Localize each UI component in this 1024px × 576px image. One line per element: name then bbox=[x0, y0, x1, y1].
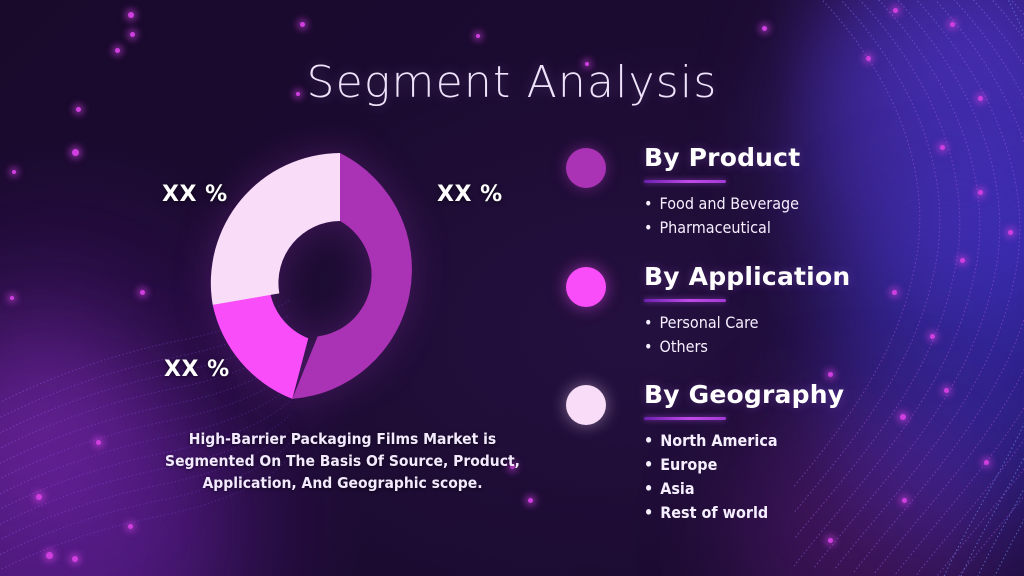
legend-underline-by-product bbox=[644, 180, 726, 183]
particle-dot bbox=[128, 12, 134, 18]
legend-heading-by-product: By Product bbox=[644, 143, 986, 173]
particle-dot bbox=[46, 552, 53, 559]
legend-items-by-geography: North America Europe Asia Rest of world bbox=[644, 429, 986, 525]
list-item: Personal Care bbox=[644, 311, 986, 335]
legend-underline-by-geography bbox=[644, 417, 726, 420]
particle-dot bbox=[130, 32, 135, 37]
list-item: Others bbox=[644, 335, 986, 359]
legend-heading-by-geography: By Geography bbox=[644, 380, 986, 410]
donut-label-top-left: XX % bbox=[162, 182, 228, 207]
legend-items-by-application: Personal Care Others bbox=[644, 311, 986, 359]
donut-label-right: XX % bbox=[437, 182, 503, 207]
particle-dot bbox=[72, 149, 79, 156]
list-item: Europe bbox=[644, 453, 986, 477]
particle-dot bbox=[1008, 230, 1013, 235]
list-item: Rest of world bbox=[644, 501, 986, 525]
legend-dot-by-geography-icon bbox=[566, 385, 606, 425]
legend-group-by-geography[interactable]: By Geography North America Europe Asia R… bbox=[566, 380, 986, 525]
particle-dot bbox=[476, 34, 480, 38]
particle-dot bbox=[12, 170, 16, 174]
list-item: Food and Beverage bbox=[644, 192, 986, 216]
legend-items-by-product: Food and Beverage Pharmaceutical bbox=[644, 192, 986, 240]
particle-dot bbox=[140, 290, 145, 295]
legend-group-by-application[interactable]: By Application Personal Care Others bbox=[566, 262, 986, 359]
legend-dot-by-product-icon bbox=[566, 148, 606, 188]
legend-dot-by-application-icon bbox=[566, 267, 606, 307]
legend-heading-by-application: By Application bbox=[644, 262, 986, 292]
donut-label-bottom-left: XX % bbox=[164, 357, 230, 382]
particle-dot bbox=[128, 524, 133, 529]
donut-slice-by-application[interactable] bbox=[213, 294, 309, 399]
donut-slice-by-geography[interactable] bbox=[211, 153, 340, 305]
segment-legend: By Product Food and Beverage Pharmaceuti… bbox=[566, 143, 986, 544]
particle-dot bbox=[10, 296, 14, 300]
legend-group-by-product[interactable]: By Product Food and Beverage Pharmaceuti… bbox=[566, 143, 986, 240]
particle-dot bbox=[950, 22, 955, 27]
list-item: North America bbox=[644, 429, 986, 453]
legend-underline-by-application bbox=[644, 299, 726, 302]
chart-caption: High-Barrier Packaging Films Market is S… bbox=[160, 428, 525, 494]
list-item: Asia bbox=[644, 477, 986, 501]
particle-dot bbox=[115, 48, 120, 53]
particle-dot bbox=[762, 26, 767, 31]
donut-chart bbox=[205, 148, 475, 418]
particle-dot bbox=[528, 498, 533, 503]
page-title: Segment Analysis bbox=[0, 57, 1024, 108]
particle-dot bbox=[72, 556, 78, 562]
list-item: Pharmaceutical bbox=[644, 216, 986, 240]
particle-dot bbox=[893, 8, 898, 13]
particle-dot bbox=[300, 22, 305, 27]
particle-dot bbox=[36, 494, 42, 500]
particle-dot bbox=[96, 440, 101, 445]
